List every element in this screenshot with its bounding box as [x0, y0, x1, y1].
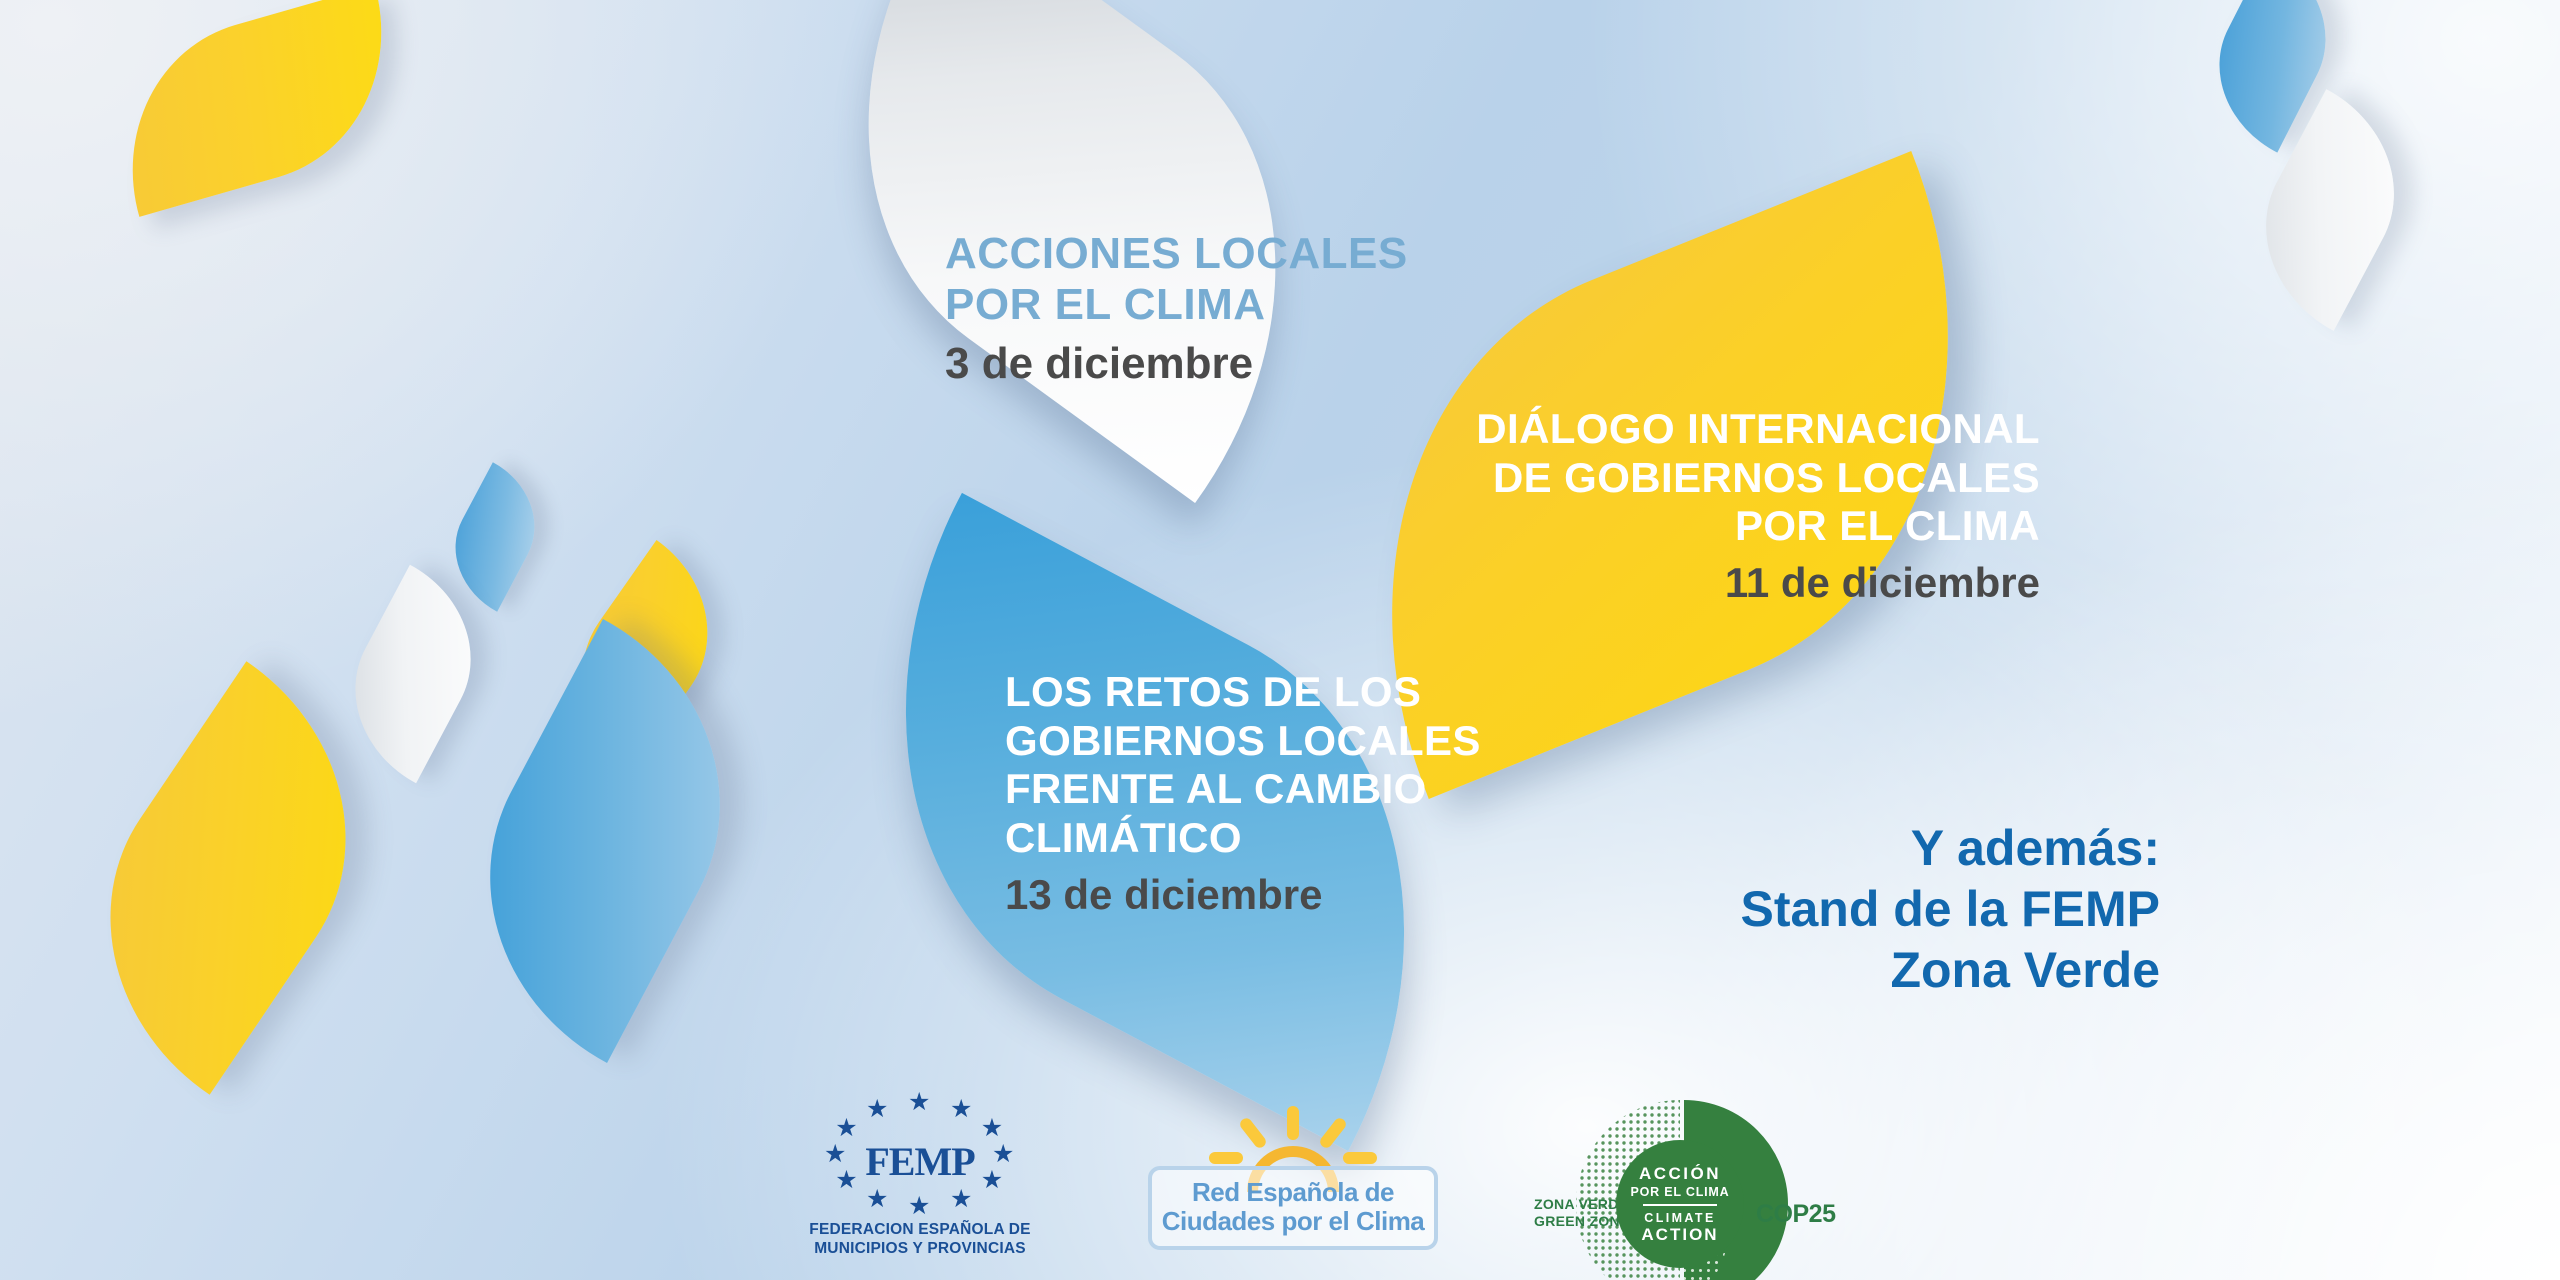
logo-red-espanola-ciudades[interactable]: Red Española de Ciudades por el Clima [1148, 1106, 1438, 1280]
extra-info-block: Y además: Stand de la FEMP Zona Verde [1480, 818, 2160, 1001]
event-block-dialogo-internacional: DIÁLOGO INTERNACIONAL DE GOBIERNOS LOCAL… [1300, 405, 2040, 608]
extra-line-2: Stand de la FEMP [1480, 879, 2160, 940]
event-title-line2: GOBIERNOS LOCALES [1005, 717, 1645, 766]
extra-line-3: Zona Verde [1480, 940, 2160, 1001]
cop25-center-line3: CLIMATE [1644, 1211, 1715, 1225]
femp-star-icon: ★ [866, 1187, 888, 1212]
extra-line-1: Y además: [1480, 818, 2160, 879]
event-title-line2: POR EL CLIMA [945, 279, 1408, 330]
logo-femp[interactable]: ★★★★★★★★★★★★ FEMP FEDERACION ESPAÑOLA DE… [800, 1096, 1040, 1276]
cop25-center-disc: ACCIÓN POR EL CLIMA CLIMATE ACTION [1616, 1140, 1744, 1268]
event-date: 3 de diciembre [945, 338, 1408, 389]
cop25-center-divider [1643, 1204, 1717, 1206]
event-title-line2: DE GOBIERNOS LOCALES [1300, 454, 2040, 503]
femp-acronym: FEMP [825, 1138, 1015, 1185]
event-date: 11 de diciembre [1300, 559, 2040, 608]
event-title-line1: LOS RETOS DE LOS [1005, 668, 1645, 717]
femp-star-icon: ★ [950, 1097, 972, 1122]
femp-star-icon: ★ [908, 1090, 930, 1115]
red-espanola-line1: Red Española de [1156, 1178, 1430, 1207]
femp-star-icon: ★ [866, 1097, 888, 1122]
decorative-leaf-blue-large-bottom-left [420, 619, 790, 1063]
femp-subtitle-line2: MUNICIPIOS Y PROVINCIAS [800, 1239, 1040, 1258]
cop25-center-line1: ACCIÓN [1639, 1164, 1721, 1184]
event-title-line3: FRENTE AL CAMBIO [1005, 765, 1645, 814]
femp-stars-ring: ★★★★★★★★★★★★ FEMP [825, 1096, 1015, 1214]
cop25-center-line2: POR EL CLIMA [1631, 1185, 1730, 1199]
cop25-center-line4: ACTION [1641, 1225, 1718, 1245]
event-title-line1: DIÁLOGO INTERNACIONAL [1300, 405, 2040, 454]
femp-star-icon: ★ [908, 1194, 930, 1219]
event-title-line3: POR EL CLIMA [1300, 502, 2040, 551]
femp-star-icon: ★ [950, 1187, 972, 1212]
femp-subtitle: FEDERACION ESPAÑOLA DE MUNICIPIOS Y PROV… [800, 1220, 1040, 1259]
red-espanola-label-box: Red Española de Ciudades por el Clima [1148, 1166, 1438, 1250]
banner-canvas: ACCIONES LOCALES POR EL CLIMA 3 de dicie… [0, 0, 2560, 1280]
event-title-line1: ACCIONES LOCALES [945, 228, 1408, 279]
event-block-acciones-locales: ACCIONES LOCALES POR EL CLIMA 3 de dicie… [945, 228, 1408, 389]
decorative-leaf-blue-small-left [432, 462, 558, 612]
cop25-label: COP25 [1756, 1200, 1835, 1229]
red-espanola-line2: Ciudades por el Clima [1156, 1207, 1430, 1236]
femp-subtitle-line1: FEDERACION ESPAÑOLA DE [800, 1220, 1040, 1239]
logo-cop25-accion-por-el-clima[interactable]: ZONA VERDE GREEN ZONE COP25 ACCIÓN POR E… [1538, 1092, 1838, 1280]
decorative-leaf-yellow-top-left [96, 0, 418, 217]
